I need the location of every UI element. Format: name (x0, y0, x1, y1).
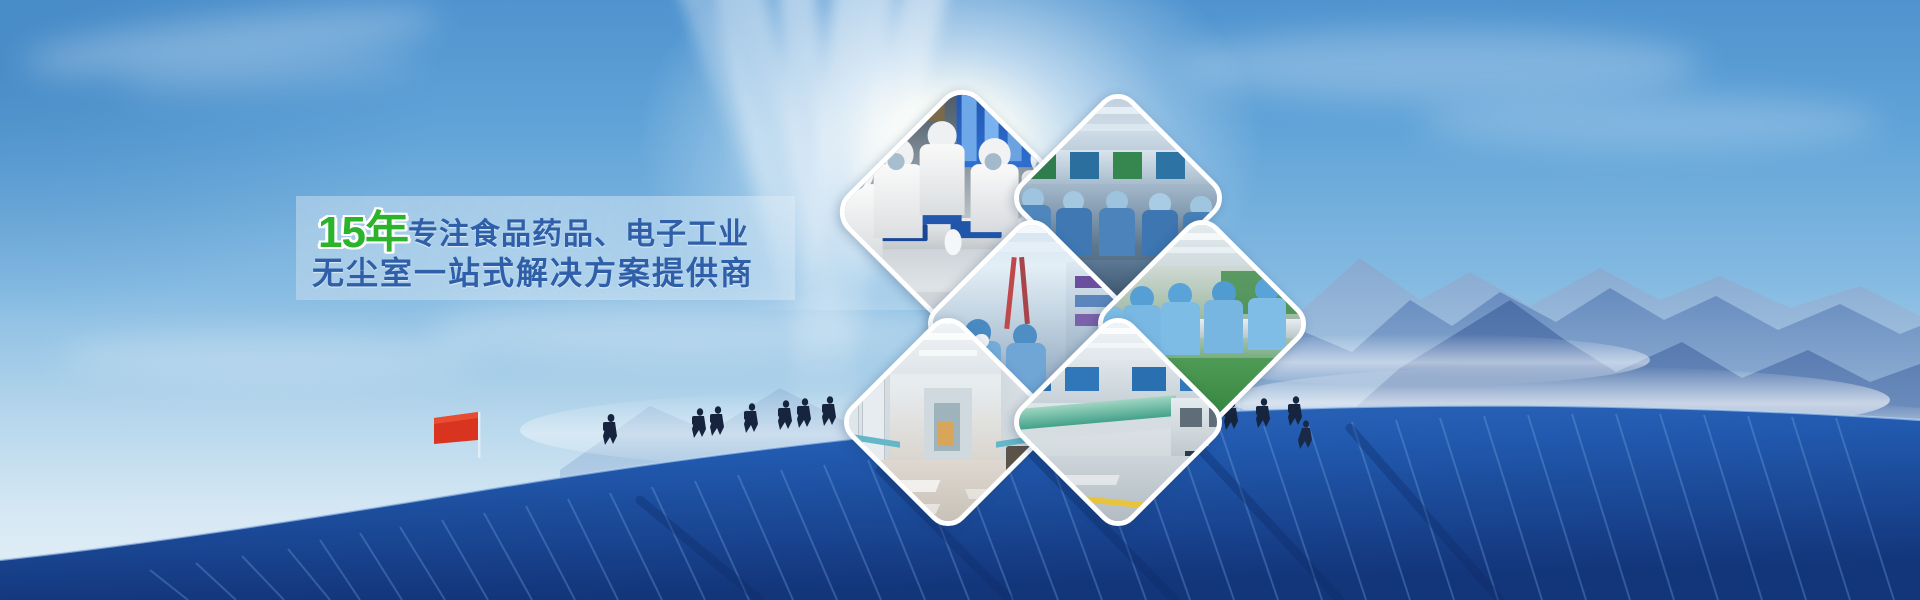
climber (710, 406, 724, 436)
climber (1298, 420, 1312, 449)
headline-line-2-text: 无尘室一站式解决方案提供商 (312, 255, 754, 291)
climber (692, 408, 706, 438)
headline-line-2: 无尘室一站式解决方案提供商 (300, 256, 820, 291)
years-number: 15年 (318, 208, 408, 257)
climber (1288, 396, 1302, 426)
climber (744, 403, 758, 433)
photo-collage (840, 96, 1280, 476)
hero-banner: 15年专注食品药品、电子工业 无尘室一站式解决方案提供商 (0, 0, 1920, 600)
climber-far-right (1298, 420, 1312, 449)
flag-left (434, 412, 480, 458)
climber (603, 414, 617, 445)
climber-group-left (603, 393, 872, 445)
headline-line-1-text: 专注食品药品、电子工业 (408, 218, 749, 251)
climber (797, 398, 811, 428)
headline-block: 15年专注食品药品、电子工业 无尘室一站式解决方案提供商 (300, 200, 820, 300)
climber (822, 396, 836, 426)
climber (778, 400, 792, 430)
headline-line-1: 15年专注食品药品、电子工业 (300, 209, 820, 257)
